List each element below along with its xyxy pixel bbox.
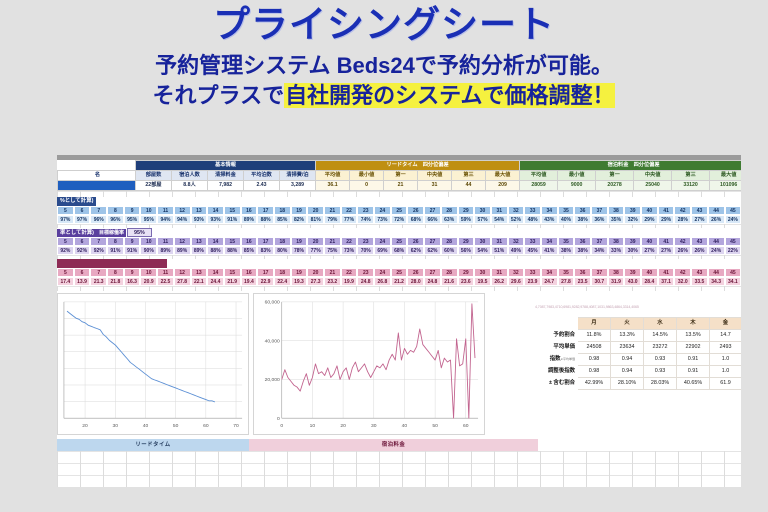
band1-val-3: 96% [107,215,124,224]
band1-col-1: 6 [74,206,91,215]
band3-col-29: 34 [541,268,558,277]
weekday-row: 予約割合11.8%13.3%14.5%13.5%14.7 [536,330,742,342]
header-subtitle: 予約管理システム Beds24で予約分析が可能。 それプラスで自社開発のシステム… [0,51,768,110]
band3-col-13: 18 [274,268,291,277]
band3-val-32: 30.7 [591,277,608,286]
band2-col-13: 18 [274,237,291,246]
xtick-label-4: 40 [402,423,408,429]
xtick-label-5: 70 [233,423,239,429]
band1-val-16: 79% [324,215,341,224]
band1-col-18: 23 [357,206,374,215]
xtick-label-5: 50 [432,423,438,429]
rate-value-5: 101096 [710,181,741,191]
micro-number-row: 4,7087,7983,4710,6981,9282,9788,4087,103… [535,305,741,312]
band1-col-21: 26 [407,206,424,215]
lead-header-1: 最小値 [350,171,384,181]
band3-values: 17.413.921.321.816.320.922.527.822.124.4… [57,277,741,286]
info-table-wrap: 基本情報 リードタイム 四分位偏差 宿泊料金 四分位偏差 名 部屋数 宿泊人数 … [57,160,741,191]
band3-col-19: 24 [374,268,391,277]
weekday-header-3: 木 [677,318,710,330]
band1-col-12: 17 [257,206,274,215]
band1-col-22: 27 [424,206,441,215]
band3-val-16: 23.2 [324,277,341,286]
band1-col-33: 38 [608,206,625,215]
band3-col-24: 29 [458,268,475,277]
band3-col-17: 22 [341,268,358,277]
percent-band-3: 5678910111213141516171819202122232425262… [57,259,741,286]
band2-col-20: 25 [391,237,408,246]
weekday-header-2: 水 [644,318,677,330]
band1-col-23: 28 [441,206,458,215]
band2-col-40: 45 [725,237,742,246]
charts-area: 203040506070 0102030405060020,00040,0006… [57,291,741,439]
header: プライシングシート 予約管理システム Beds24で予約分析が可能。 それプラス… [0,0,768,110]
spreadsheet[interactable]: 基本情報 リードタイム 四分位偏差 宿泊料金 四分位偏差 名 部屋数 宿泊人数 … [57,155,741,487]
legend-bands: リードタイム 宿泊料金 [57,439,741,451]
band1-val-11: 89% [241,215,258,224]
band2-val-35: 27% [641,246,658,255]
band2-val-4: 91% [124,246,141,255]
weekday-row-label-1: 平均単価 [536,342,578,354]
weekday-cell-4-2: 28.03% [644,378,677,390]
band3-val-12: 22.9 [257,277,274,286]
band3-col-38: 43 [691,268,708,277]
band2-val-32: 34% [591,246,608,255]
band2-val-26: 51% [491,246,508,255]
band2-col-23: 28 [441,237,458,246]
band1-col-16: 21 [324,206,341,215]
band2-col-12: 17 [257,237,274,246]
band3-col-6: 11 [157,268,174,277]
band2-col-33: 38 [608,237,625,246]
weekday-row-label-2: 指数※平均単価 [536,354,578,366]
band-leadtime: リードタイム 四分位偏差 [316,161,520,171]
info-band-row: 基本情報 リードタイム 四分位偏差 宿泊料金 四分位偏差 [58,161,742,171]
rate-value-0: 28059 [520,181,558,191]
band1-col-30: 35 [558,206,575,215]
band1-val-1: 97% [74,215,91,224]
band1-col-34: 39 [624,206,641,215]
band2-col-36: 41 [658,237,675,246]
band2-val-0: 92% [57,246,74,255]
band3-val-3: 21.8 [107,277,124,286]
legend-empty [538,439,741,451]
band1-val-26: 54% [491,215,508,224]
band2-val-33: 33% [608,246,625,255]
page-title: プライシングシート [0,6,768,45]
weekday-cell-0-4: 14.7 [710,330,742,342]
weekday-row-label-0: 予約割合 [536,330,578,342]
weekday-row: 指数※平均単価0.980.940.930.911.0 [536,354,742,366]
band2-col-31: 36 [574,237,591,246]
band1-col-37: 42 [674,206,691,215]
band3-col-15: 20 [307,268,324,277]
lead-header-5: 最大値 [486,171,520,181]
band3-col-26: 31 [491,268,508,277]
band-basic: 基本情報 [136,161,316,171]
band3-col-30: 35 [558,268,575,277]
band2-val-16: 75% [324,246,341,255]
lead-header-0: 平均値 [316,171,350,181]
band2-col-18: 23 [357,237,374,246]
band1-col-24: 29 [458,206,475,215]
weekday-cell-0-0: 11.8% [578,330,611,342]
band2-col-34: 39 [624,237,641,246]
band2-val-1: 92% [74,246,91,255]
xtick-label-0: 20 [82,423,88,429]
band1-val-37: 28% [674,215,691,224]
sheet-empty-rows [57,451,741,487]
weekday-header-row: 月 火 水 木 金 [536,318,742,330]
band1-label: %として計算) [57,197,96,206]
xtick-label-6: 60 [463,423,469,429]
band3-col-36: 41 [658,268,675,277]
weekday-cell-1-3: 22902 [677,342,710,354]
band2-col-22: 27 [424,237,441,246]
band3-col-27: 32 [508,268,525,277]
band3-column-headers: 5678910111213141516171819202122232425262… [57,268,741,277]
chart-rate-canvas: 0102030405060020,00040,00060,000 [254,294,484,434]
band2-col-27: 32 [508,237,525,246]
chart-rate[interactable]: 0102030405060020,00040,00060,000 [253,293,485,435]
basic-value-3: 2.43 [244,181,280,191]
band3-col-31: 36 [574,268,591,277]
band3-col-11: 16 [241,268,258,277]
band3-val-14: 19.3 [291,277,308,286]
band2-val-18: 70% [357,246,374,255]
band2-val-39: 24% [708,246,725,255]
band1-col-9: 14 [207,206,224,215]
band3-val-4: 16.3 [124,277,141,286]
band2-val-9: 88% [207,246,224,255]
band3-col-39: 44 [708,268,725,277]
band1-col-13: 18 [274,206,291,215]
band2-label-row: 率として計算)目標稼働率95% [57,228,741,237]
basic-value-2: 7,982 [208,181,244,191]
weekday-corner-cell [536,318,578,330]
band3-val-17: 19.9 [341,277,358,286]
band1-val-24: 59% [458,215,475,224]
header-subtitle-line2: それプラスで自社開発のシステムで価格調整！ [0,81,768,111]
weekday-cell-1-1: 23634 [611,342,644,354]
band2-col-7: 12 [174,237,191,246]
band3-label [57,259,167,268]
name-label: 名 [58,171,136,181]
weekday-cell-3-0: 0.98 [578,366,611,378]
band1-col-6: 11 [157,206,174,215]
band3-val-39: 34.3 [708,277,725,286]
band1-val-33: 35% [608,215,625,224]
band1-val-18: 74% [357,215,374,224]
weekday-cell-3-3: 0.91 [677,366,710,378]
band1-col-11: 16 [241,206,258,215]
band3-val-33: 31.9 [608,277,625,286]
band1-col-29: 34 [541,206,558,215]
band3-val-30: 27.8 [558,277,575,286]
band3-val-15: 27.3 [307,277,324,286]
band1-col-35: 40 [641,206,658,215]
band1-val-27: 52% [508,215,525,224]
band3-val-10: 21.9 [224,277,241,286]
slide-root: プライシングシート 予約管理システム Beds24で予約分析が可能。 それプラス… [0,0,768,512]
band2-val-6: 89% [157,246,174,255]
band1-col-20: 25 [391,206,408,215]
band3-val-0: 17.4 [57,277,74,286]
target-occupancy-input[interactable]: 95% [127,228,152,237]
percent-band-2: 率として計算)目標稼働率95% 567891011121314151617181… [57,228,741,255]
band3-col-21: 26 [407,268,424,277]
xtick-label-2: 40 [143,423,149,429]
band2-val-7: 89% [174,246,191,255]
band3-col-0: 5 [57,268,74,277]
band2-val-13: 80% [274,246,291,255]
band1-val-6: 94% [157,215,174,224]
series-line [282,304,475,418]
band1-col-0: 5 [57,206,74,215]
band1-val-2: 96% [90,215,107,224]
band2-col-30: 35 [558,237,575,246]
band3-val-31: 23.5 [574,277,591,286]
band3-col-20: 25 [391,268,408,277]
band3-col-9: 14 [207,268,224,277]
band2-column-headers: 5678910111213141516171819202122232425262… [57,237,741,246]
band3-val-29: 24.7 [541,277,558,286]
xtick-label-1: 30 [113,423,119,429]
band1-col-40: 45 [725,206,742,215]
band3-col-32: 37 [591,268,608,277]
band2-val-14: 78% [291,246,308,255]
weekday-cell-4-4: 61.9 [710,378,742,390]
band2-col-37: 42 [674,237,691,246]
band3-col-4: 9 [124,268,141,277]
band2-col-8: 13 [191,237,208,246]
band1-val-29: 43% [541,215,558,224]
basic-value-1: 8.8人 [172,181,208,191]
band3-val-6: 22.5 [157,277,174,286]
rate-header-4: 第三 [672,171,710,181]
header-subtitle-line2-prefix: それプラスで [153,83,285,108]
band2-values: 92%92%92%91%91%90%89%89%89%88%88%85%83%8… [57,246,741,255]
rate-value-2: 20278 [596,181,634,191]
band3-val-11: 19.4 [241,277,258,286]
band3-val-22: 24.8 [424,277,441,286]
weekday-cell-1-4: 2493 [710,342,742,354]
band1-col-38: 43 [691,206,708,215]
band1-val-17: 77% [341,215,358,224]
band2-val-25: 54% [474,246,491,255]
band1-col-26: 31 [491,206,508,215]
band3-col-23: 28 [441,268,458,277]
lead-value-5: 209 [486,181,520,191]
band1-val-21: 68% [407,215,424,224]
band2-col-15: 20 [307,237,324,246]
band3-val-2: 21.3 [90,277,107,286]
band3-val-1: 13.9 [74,277,91,286]
band3-col-40: 45 [725,268,742,277]
band2-val-23: 60% [441,246,458,255]
rate-value-4: 33120 [672,181,710,191]
weekday-header-0: 月 [578,318,611,330]
band1-val-23: 63% [441,215,458,224]
band3-val-35: 28.4 [641,277,658,286]
basic-header-1: 宿泊人数 [172,171,208,181]
band2-val-31: 38% [574,246,591,255]
band1-val-12: 88% [257,215,274,224]
band1-val-30: 40% [558,215,575,224]
band2-val-37: 26% [674,246,691,255]
band3-val-13: 22.4 [274,277,291,286]
band3-col-18: 23 [357,268,374,277]
band2-col-9: 14 [207,237,224,246]
percent-band-1: %として計算) 56789101112131415161718192021222… [57,197,741,224]
band2-col-35: 40 [641,237,658,246]
band2-col-6: 11 [157,237,174,246]
band3-col-10: 15 [224,268,241,277]
band1-col-39: 44 [708,206,725,215]
band2-val-3: 91% [107,246,124,255]
lead-header-4: 第三 [452,171,486,181]
basic-header-2: 清掃料金 [208,171,244,181]
weekday-row: 平均単価245082363423272229022493 [536,342,742,354]
band2-col-26: 31 [491,237,508,246]
rate-header-1: 最小値 [558,171,596,181]
weekday-row-label-4: ± 含む割合 [536,378,578,390]
band2-col-28: 33 [524,237,541,246]
band1-val-4: 95% [124,215,141,224]
band3-label-row [57,259,741,268]
band3-val-20: 21.2 [391,277,408,286]
band3-col-12: 17 [257,268,274,277]
band1-val-40: 24% [725,215,742,224]
band2-col-1: 6 [74,237,91,246]
rate-header-5: 最大値 [710,171,741,181]
band3-val-27: 29.6 [508,277,525,286]
band1-val-22: 66% [424,215,441,224]
band3-val-24: 23.6 [458,277,475,286]
band1-val-7: 94% [174,215,191,224]
band2-val-38: 26% [691,246,708,255]
xtick-label-2: 20 [340,423,346,429]
band2-col-14: 19 [291,237,308,246]
lead-value-4: 44 [452,181,486,191]
band2-col-4: 9 [124,237,141,246]
band2-col-32: 37 [591,237,608,246]
ytick-label-1: 20,000 [265,377,280,383]
band3-val-8: 22.1 [191,277,208,286]
xtick-label-3: 50 [173,423,179,429]
weekday-summary-table: 4,7087,7983,4710,6981,9282,9788,4087,103… [535,305,741,390]
band2-col-17: 22 [341,237,358,246]
band2-val-20: 68% [391,246,408,255]
band1-col-10: 15 [224,206,241,215]
band1-val-25: 57% [474,215,491,224]
legend-rate: 宿泊料金 [249,439,538,451]
xtick-label-0: 0 [280,423,283,429]
weekday-header-4: 金 [710,318,742,330]
band1-val-8: 93% [191,215,208,224]
name-value-cell[interactable] [58,181,136,191]
band2-val-29: 41% [541,246,558,255]
band2-col-25: 30 [474,237,491,246]
weekday-cell-0-3: 13.5% [677,330,710,342]
band3-val-19: 26.8 [374,277,391,286]
band3-col-5: 10 [140,268,157,277]
band2-val-11: 85% [241,246,258,255]
band3-col-34: 39 [624,268,641,277]
band2-val-30: 38% [558,246,575,255]
info-value-row: 22部屋 8.8人 7,982 2.43 3,289 36.1 0 21 31 … [58,181,742,191]
band2-col-21: 26 [407,237,424,246]
band1-col-7: 12 [174,206,191,215]
band1-col-4: 9 [124,206,141,215]
weekday-cell-2-2: 0.93 [644,354,677,366]
band2-col-24: 29 [458,237,475,246]
band1-val-10: 91% [224,215,241,224]
band1-col-25: 30 [474,206,491,215]
band1-val-0: 97% [57,215,74,224]
band3-val-25: 19.5 [474,277,491,286]
band1-col-15: 20 [307,206,324,215]
band1-col-28: 33 [524,206,541,215]
band2-val-10: 88% [224,246,241,255]
band3-val-38: 33.5 [691,277,708,286]
weekday-cell-4-1: 28.10% [611,378,644,390]
weekday-table: 月 火 水 木 金 予約割合11.8%13.3%14.5%13.5%14.7平均… [535,317,741,390]
band3-col-8: 13 [191,268,208,277]
band1-col-32: 37 [591,206,608,215]
weekday-cell-4-3: 40.65% [677,378,710,390]
header-subtitle-line1: 予約管理システム Beds24で予約分析が可能。 [0,51,768,81]
basic-value-0: 22部屋 [136,181,172,191]
lead-value-1: 0 [350,181,384,191]
band2-col-16: 21 [324,237,341,246]
band1-column-headers: 5678910111213141516171819202122232425262… [57,206,741,215]
weekday-cell-3-4: 1.0 [710,366,742,378]
band2-val-27: 49% [508,246,525,255]
chart-leadtime-canvas: 203040506070 [58,294,248,434]
weekday-cell-2-3: 0.91 [677,354,710,366]
band2-val-36: 27% [658,246,675,255]
band2-val-28: 45% [524,246,541,255]
band1-col-3: 8 [107,206,124,215]
band3-col-1: 6 [74,268,91,277]
band1-label-row: %として計算) [57,197,741,206]
band1-col-31: 36 [574,206,591,215]
weekday-cell-4-0: 42.99% [578,378,611,390]
band1-val-19: 73% [374,215,391,224]
series-line [67,311,215,402]
band2-col-2: 7 [90,237,107,246]
rate-header-3: 中央値 [634,171,672,181]
rate-header-2: 第一 [596,171,634,181]
weekday-cell-1-2: 23272 [644,342,677,354]
band2-col-3: 8 [107,237,124,246]
band2-col-5: 10 [140,237,157,246]
band3-val-9: 24.4 [207,277,224,286]
band2-col-19: 24 [374,237,391,246]
band1-val-20: 72% [391,215,408,224]
band2-val-17: 73% [341,246,358,255]
band3-col-16: 21 [324,268,341,277]
ytick-label-3: 60,000 [265,300,280,306]
band1-col-36: 41 [658,206,675,215]
band3-val-36: 37.1 [658,277,675,286]
chart-leadtime[interactable]: 203040506070 [57,293,249,435]
band2-val-22: 62% [424,246,441,255]
band2-val-40: 22% [725,246,742,255]
weekday-cell-2-1: 0.94 [611,354,644,366]
basic-header-0: 部屋数 [136,171,172,181]
